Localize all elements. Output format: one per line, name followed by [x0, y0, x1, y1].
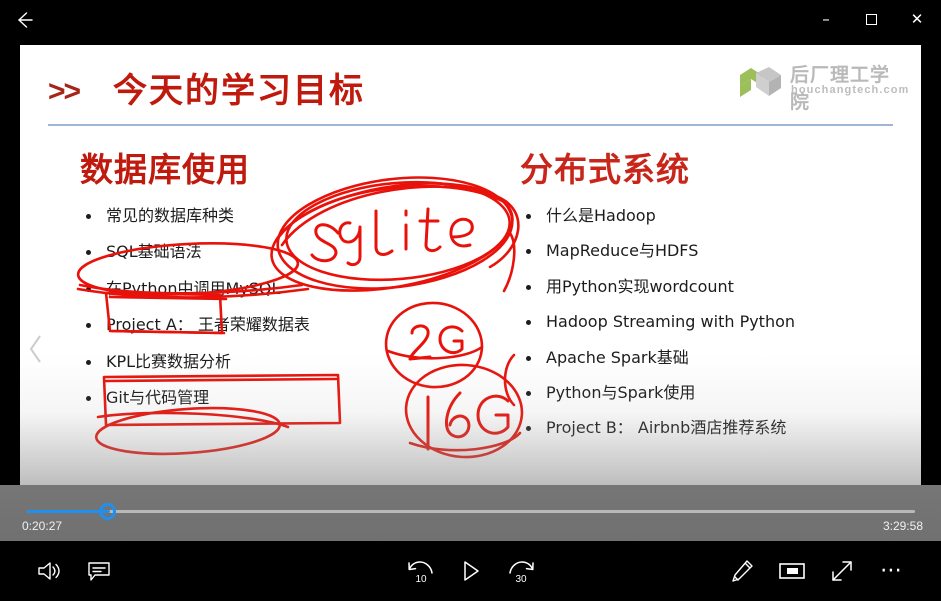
total-time-label: 3:29:58	[883, 519, 923, 533]
play-icon	[460, 559, 482, 583]
list-item: 什么是Hadoop	[520, 207, 920, 225]
volume-button[interactable]	[24, 541, 74, 601]
title-bar: – ✕	[0, 0, 941, 45]
slide-title-chevrons: >>	[48, 75, 79, 109]
video-stage[interactable]: >> 今天的学习目标 后厂理工学院 houchangtech.com 数据库使用	[20, 45, 921, 561]
player-button-row: 10 30	[0, 541, 941, 601]
previous-slide-button[interactable]	[26, 333, 46, 365]
column-heading-right: 分布式系统	[520, 143, 920, 191]
minimize-icon: –	[822, 12, 830, 27]
forward-30-button[interactable]: 30	[496, 541, 546, 601]
list-item: MapReduce与HDFS	[520, 242, 920, 260]
progress-fill	[27, 510, 110, 513]
video-player-window: – ✕ >> 今天的学习目标	[0, 0, 941, 601]
logo-mark-icon	[738, 65, 784, 99]
forward-30-label: 30	[496, 574, 546, 585]
progress-thumb[interactable]	[99, 503, 116, 520]
player-control-bar: 0:20:27 3:29:58	[0, 485, 941, 601]
current-time-label: 0:20:27	[22, 519, 62, 533]
list-item: 常见的数据库种类	[80, 207, 480, 225]
list-item: 在Python中调用MySQL	[80, 280, 480, 298]
rewind-10-button[interactable]: 10	[396, 541, 446, 601]
minimize-button[interactable]: –	[803, 2, 849, 36]
slide-content: >> 今天的学习目标 后厂理工学院 houchangtech.com 数据库使用	[20, 45, 921, 561]
maximize-button[interactable]	[848, 2, 894, 36]
progress-area: 0:20:27 3:29:58	[0, 485, 941, 541]
volume-icon	[36, 559, 62, 583]
mini-player-button[interactable]	[767, 541, 817, 601]
back-button[interactable]	[8, 4, 40, 36]
annotate-button[interactable]	[717, 541, 767, 601]
maximize-icon	[866, 14, 877, 25]
brand-logo: 后厂理工学院 houchangtech.com	[738, 59, 898, 105]
fullscreen-icon	[829, 558, 855, 584]
captions-icon	[86, 560, 112, 582]
more-options-icon: ⋯	[880, 560, 904, 582]
slide-title: 今天的学习目标	[113, 63, 365, 112]
pencil-icon	[729, 558, 755, 584]
captions-button[interactable]	[74, 541, 124, 601]
list-item: 用Python实现wordcount	[520, 278, 920, 296]
close-icon: ✕	[911, 12, 924, 27]
list-item: Project A： 王者荣耀数据表	[80, 316, 480, 334]
slide-title-divider	[48, 124, 893, 126]
list-item: Hadoop Streaming with Python	[520, 313, 920, 331]
list-item: SQL基础语法	[80, 243, 480, 261]
back-arrow-icon	[13, 9, 35, 31]
play-button[interactable]	[446, 541, 496, 601]
fullscreen-button[interactable]	[817, 541, 867, 601]
progress-scrubber[interactable]	[27, 510, 915, 513]
logo-en-text: houchangtech.com	[791, 84, 909, 96]
column-heading-left: 数据库使用	[80, 143, 480, 191]
more-options-button[interactable]: ⋯	[867, 541, 917, 601]
rewind-10-label: 10	[396, 574, 446, 585]
close-button[interactable]: ✕	[894, 2, 940, 36]
mini-player-icon	[778, 561, 806, 581]
